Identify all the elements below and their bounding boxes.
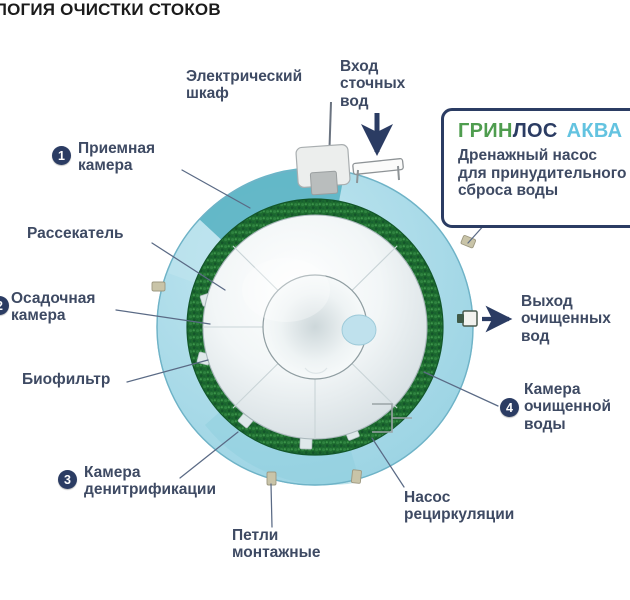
brand-callout-box: ГРИНЛОСАКВА Дренажный насос для принудит… [441,108,630,228]
badge-clean-water-chamber: 4 [500,398,519,417]
label-recirculation-pump: Насос рециркуляции [404,489,514,524]
brand-description: Дренажный насос для принудительного сбро… [458,147,630,200]
label-wastewater-inlet: Вход сточных вод [340,58,405,110]
label-clean-water-chamber: Камера очищенной воды [524,381,611,433]
leader-biofilter [127,360,208,382]
label-clean-water-outlet: Выход очищенных вод [521,293,611,345]
brand-grin: ГРИН [458,120,513,142]
label-distributor: Рассекатель [27,225,124,242]
badge-denitrification: 3 [58,470,77,489]
label-electrical-cabinet: Электрический шкаф [186,68,302,103]
label-settling-chamber: Осадочная камера [11,290,95,325]
leader-settling-chamber [116,310,210,324]
brand-logo: ГРИНЛОСАКВА [458,120,630,143]
diagram-canvas: ОЛОГИЯ ОЧИСТКИ СТОКОВ [0,0,630,600]
leader-mounting-loops [271,484,272,527]
leader-recirculation-pump [372,438,404,487]
label-biofilter: Биофильтр [22,371,110,388]
label-receiving-chamber: Приемная камера [78,140,155,175]
leader-receiving-chamber [182,170,250,208]
label-mounting-loops: Петли монтажные [232,527,321,562]
brand-los: ЛОС [513,120,558,142]
label-denitrification: Камера денитрификации [84,464,216,499]
brand-akva: АКВА [567,120,623,142]
leader-distributor [152,243,225,290]
leader-clean-water-chamber [424,372,498,406]
badge-receiving-chamber: 1 [52,146,71,165]
